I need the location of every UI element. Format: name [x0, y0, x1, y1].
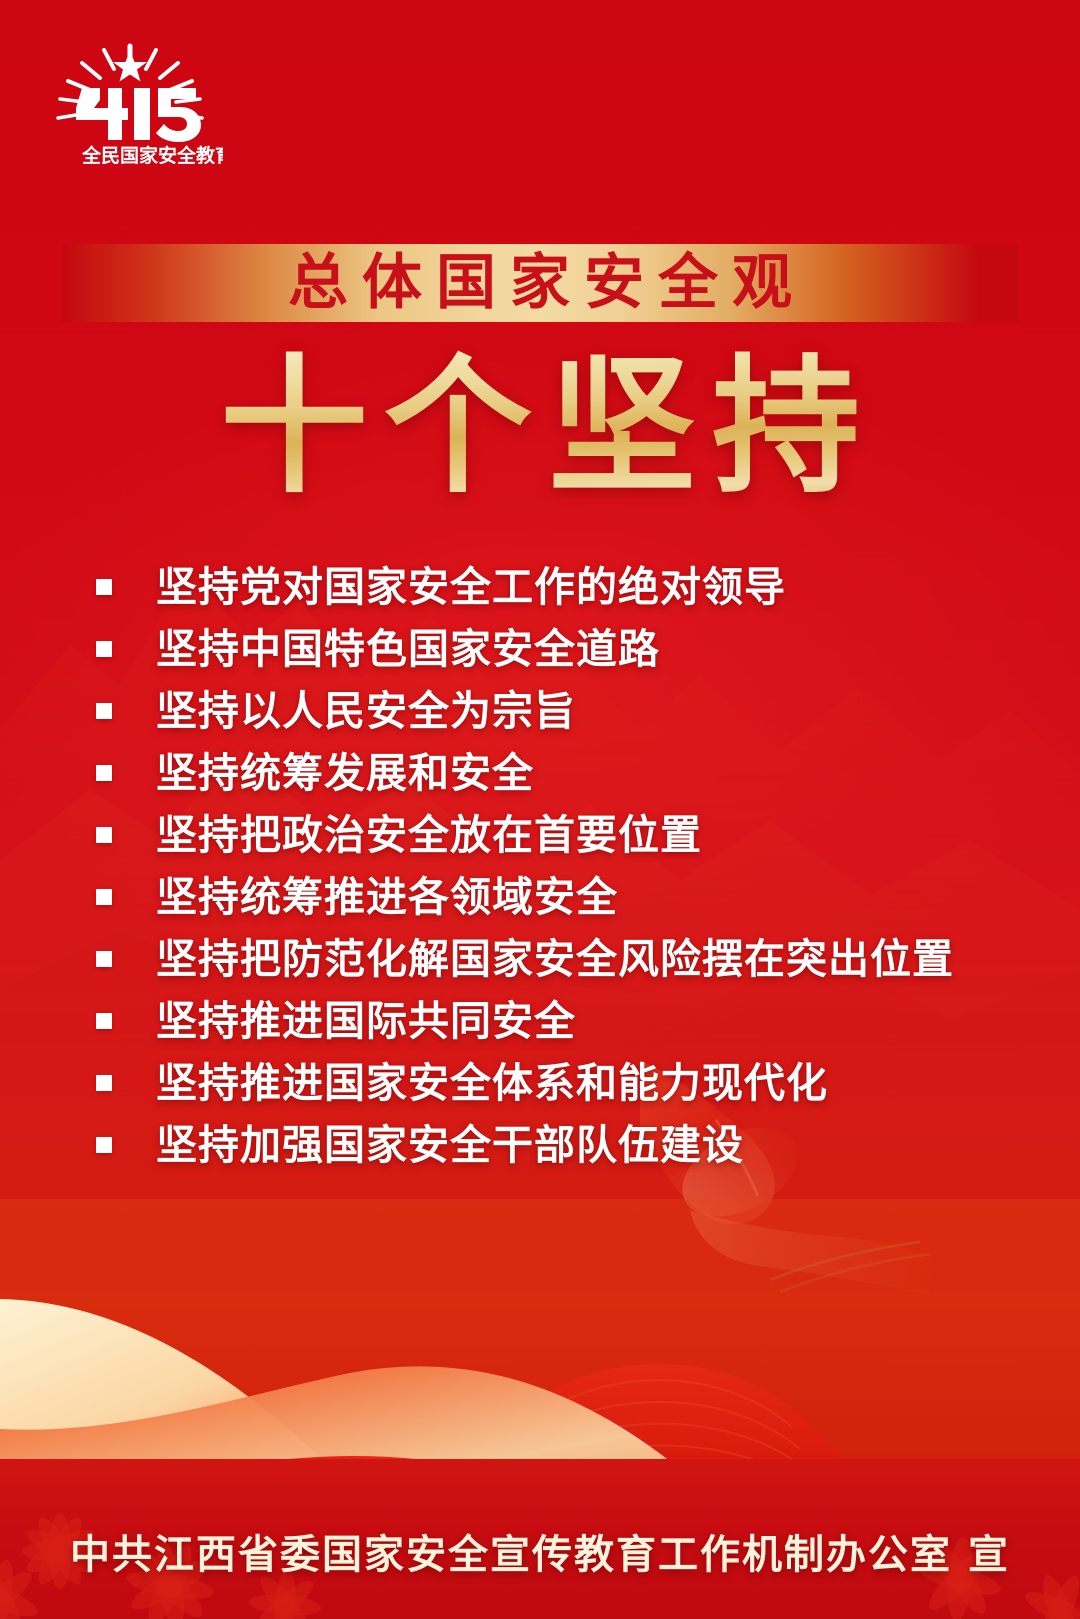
- list-item: 坚持推进国家安全体系和能力现代化: [0, 1052, 1080, 1114]
- list-item: 坚持把政治安全放在首要位置: [0, 804, 1080, 866]
- square-bullet-icon: [96, 951, 112, 967]
- list-item-label: 坚持推进国际共同安全: [156, 1001, 576, 1042]
- list-item: 坚持以人民安全为宗旨: [0, 680, 1080, 742]
- list-item-label: 坚持统筹推进各领域安全: [156, 877, 618, 918]
- list-item-label: 坚持以人民安全为宗旨: [156, 691, 576, 732]
- list-item-label: 坚持统筹发展和安全: [156, 753, 534, 794]
- square-bullet-icon: [96, 1013, 112, 1029]
- list-item: 坚持统筹发展和安全: [0, 742, 1080, 804]
- poster-root: 全民国家安全教育 总体国家安全观 十个坚持 坚持党对国家安全工作的绝对领导 坚持…: [0, 0, 1080, 1619]
- list-item-label: 坚持推进国家安全体系和能力现代化: [156, 1063, 828, 1104]
- list-item: 坚持中国特色国家安全道路: [0, 618, 1080, 680]
- logo-subtitle: 全民国家安全教育: [81, 144, 223, 164]
- list-item: 坚持推进国际共同安全: [0, 990, 1080, 1052]
- headline-wrapper: 十个坚持: [0, 350, 1080, 505]
- page-title: 十个坚持: [204, 350, 876, 505]
- banner-title: 总体国家安全观: [274, 253, 806, 313]
- square-bullet-icon: [96, 641, 112, 657]
- square-bullet-icon: [96, 703, 112, 719]
- list-item-label: 坚持加强国家安全干部队伍建设: [156, 1125, 744, 1166]
- square-bullet-icon: [96, 827, 112, 843]
- banner-总体国家安全观: 总体国家安全观: [62, 244, 1018, 322]
- 415-logo: 全民国家安全教育: [38, 36, 223, 164]
- list-item: 坚持加强国家安全干部队伍建设: [0, 1114, 1080, 1176]
- list-item-label: 坚持中国特色国家安全道路: [156, 629, 660, 670]
- list-item-label: 坚持把政治安全放在首要位置: [156, 815, 702, 856]
- square-bullet-icon: [96, 1075, 112, 1091]
- square-bullet-icon: [96, 889, 112, 905]
- list-item: 坚持党对国家安全工作的绝对领导: [0, 556, 1080, 618]
- list-item: 坚持把防范化解国家安全风险摆在突出位置: [0, 928, 1080, 990]
- list-item: 坚持统筹推进各领域安全: [0, 866, 1080, 928]
- footer-publisher: 中共江西省委国家安全宣传教育工作机制办公室 宣: [0, 1535, 1080, 1575]
- square-bullet-icon: [96, 1137, 112, 1153]
- footer-band: 中共江西省委国家安全宣传教育工作机制办公室 宣: [0, 1459, 1080, 1619]
- list-item-label: 坚持把防范化解国家安全风险摆在突出位置: [156, 939, 954, 980]
- square-bullet-icon: [96, 579, 112, 595]
- ten-persistences-list: 坚持党对国家安全工作的绝对领导 坚持中国特色国家安全道路 坚持以人民安全为宗旨 …: [0, 556, 1080, 1176]
- list-item-label: 坚持党对国家安全工作的绝对领导: [156, 567, 786, 608]
- square-bullet-icon: [96, 765, 112, 781]
